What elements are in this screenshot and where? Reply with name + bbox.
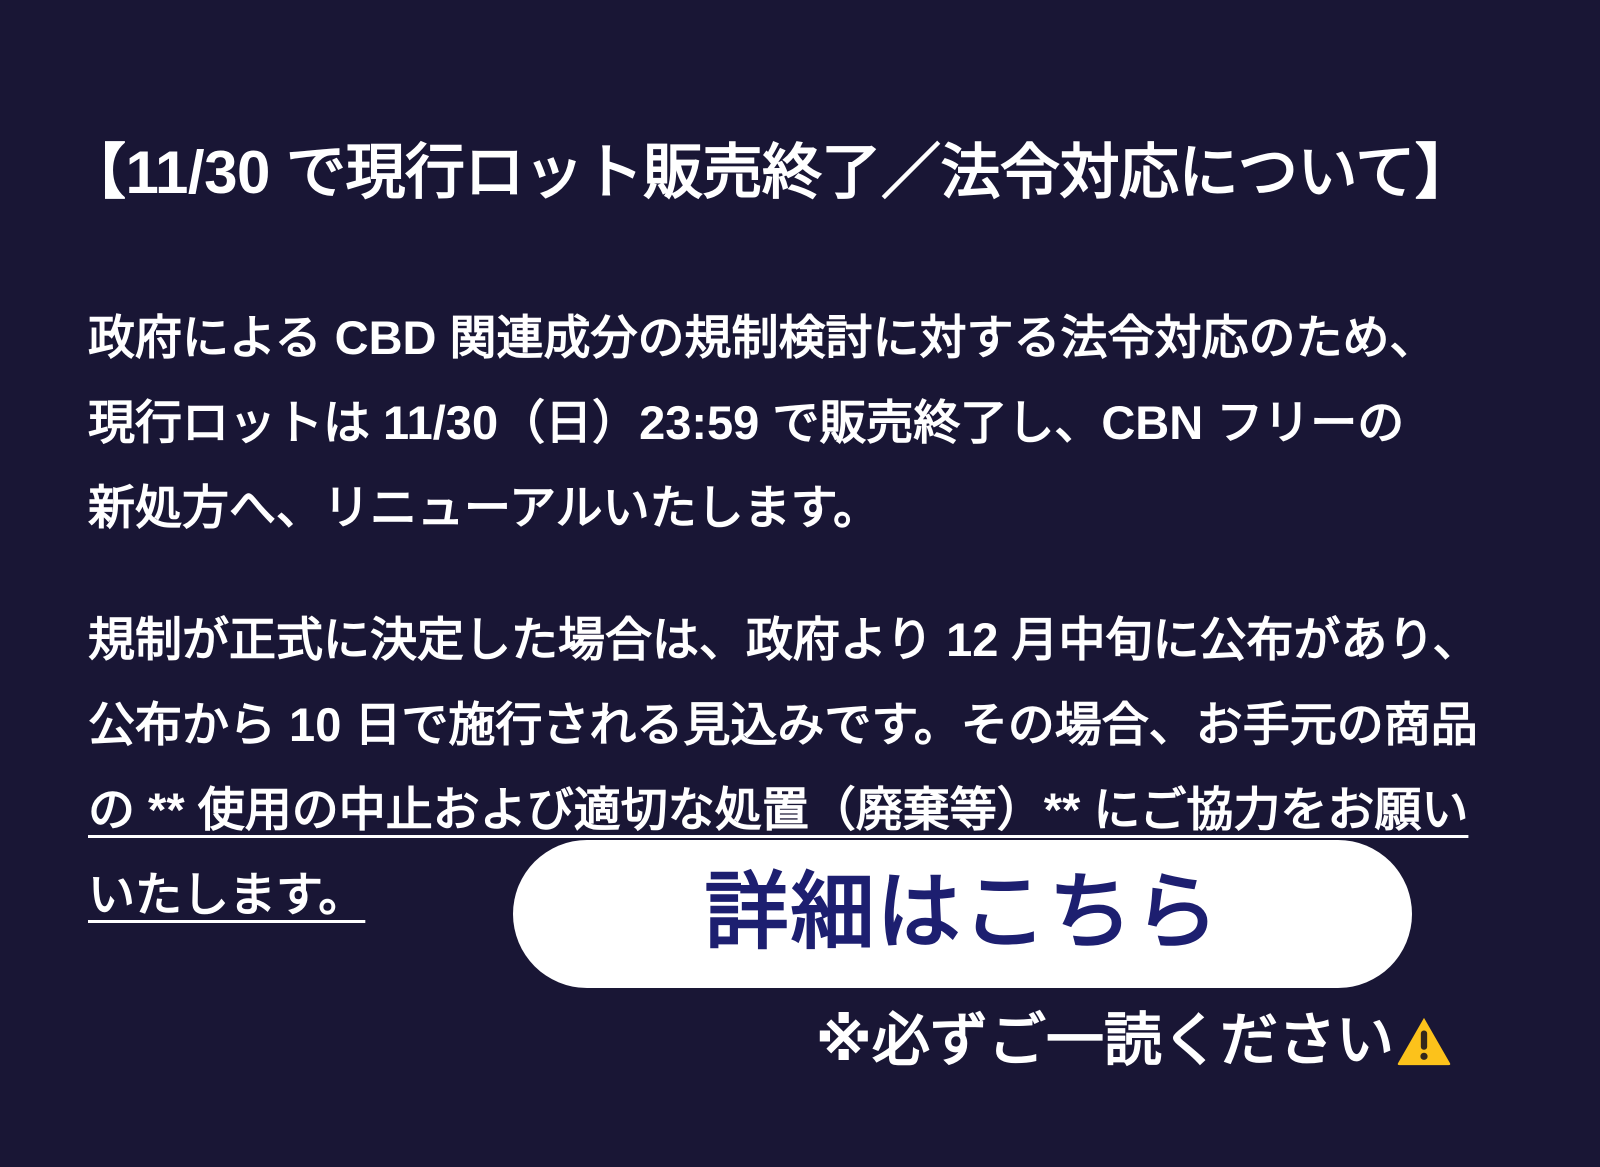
paragraph-2-line-4-text: いたします。 <box>88 868 365 921</box>
details-button[interactable]: 詳細はこちら <box>513 840 1412 988</box>
paragraph-2-line-1: 規制が正式に決定した場合は、政府より 12 月中旬に公布があり、 <box>88 597 1518 682</box>
paragraph-1-line-1: 政府による CBD 関連成分の規制検討に対する法令対応のため、 <box>88 295 1518 380</box>
details-button-label: 詳細はこちら <box>704 870 1220 954</box>
footer-note-text: ※必ずご一読ください <box>816 1012 1394 1070</box>
paragraph-1-line-2: 現行ロットは 11/30（日）23:59 で販売終了し、CBN フリーの <box>88 380 1518 465</box>
page-title: 【11/30 で現行ロット販売終了／法令対応について】 <box>66 143 1546 203</box>
paragraph-2-line-2: 公布から 10 日で施行される見込みです。その場合、お手元の商品 <box>88 682 1518 767</box>
announcement-banner: 【11/30 で現行ロット販売終了／法令対応について】 政府による CBD 関連… <box>0 0 1600 1167</box>
paragraph-1: 政府による CBD 関連成分の規制検討に対する法令対応のため、 現行ロットは 1… <box>88 295 1518 550</box>
paragraph-1-line-3: 新処方へ、リニューアルいたします。 <box>88 465 1518 550</box>
footer-note: ※必ずご一読ください <box>816 1012 1452 1070</box>
warning-triangle-icon <box>1396 1013 1452 1069</box>
